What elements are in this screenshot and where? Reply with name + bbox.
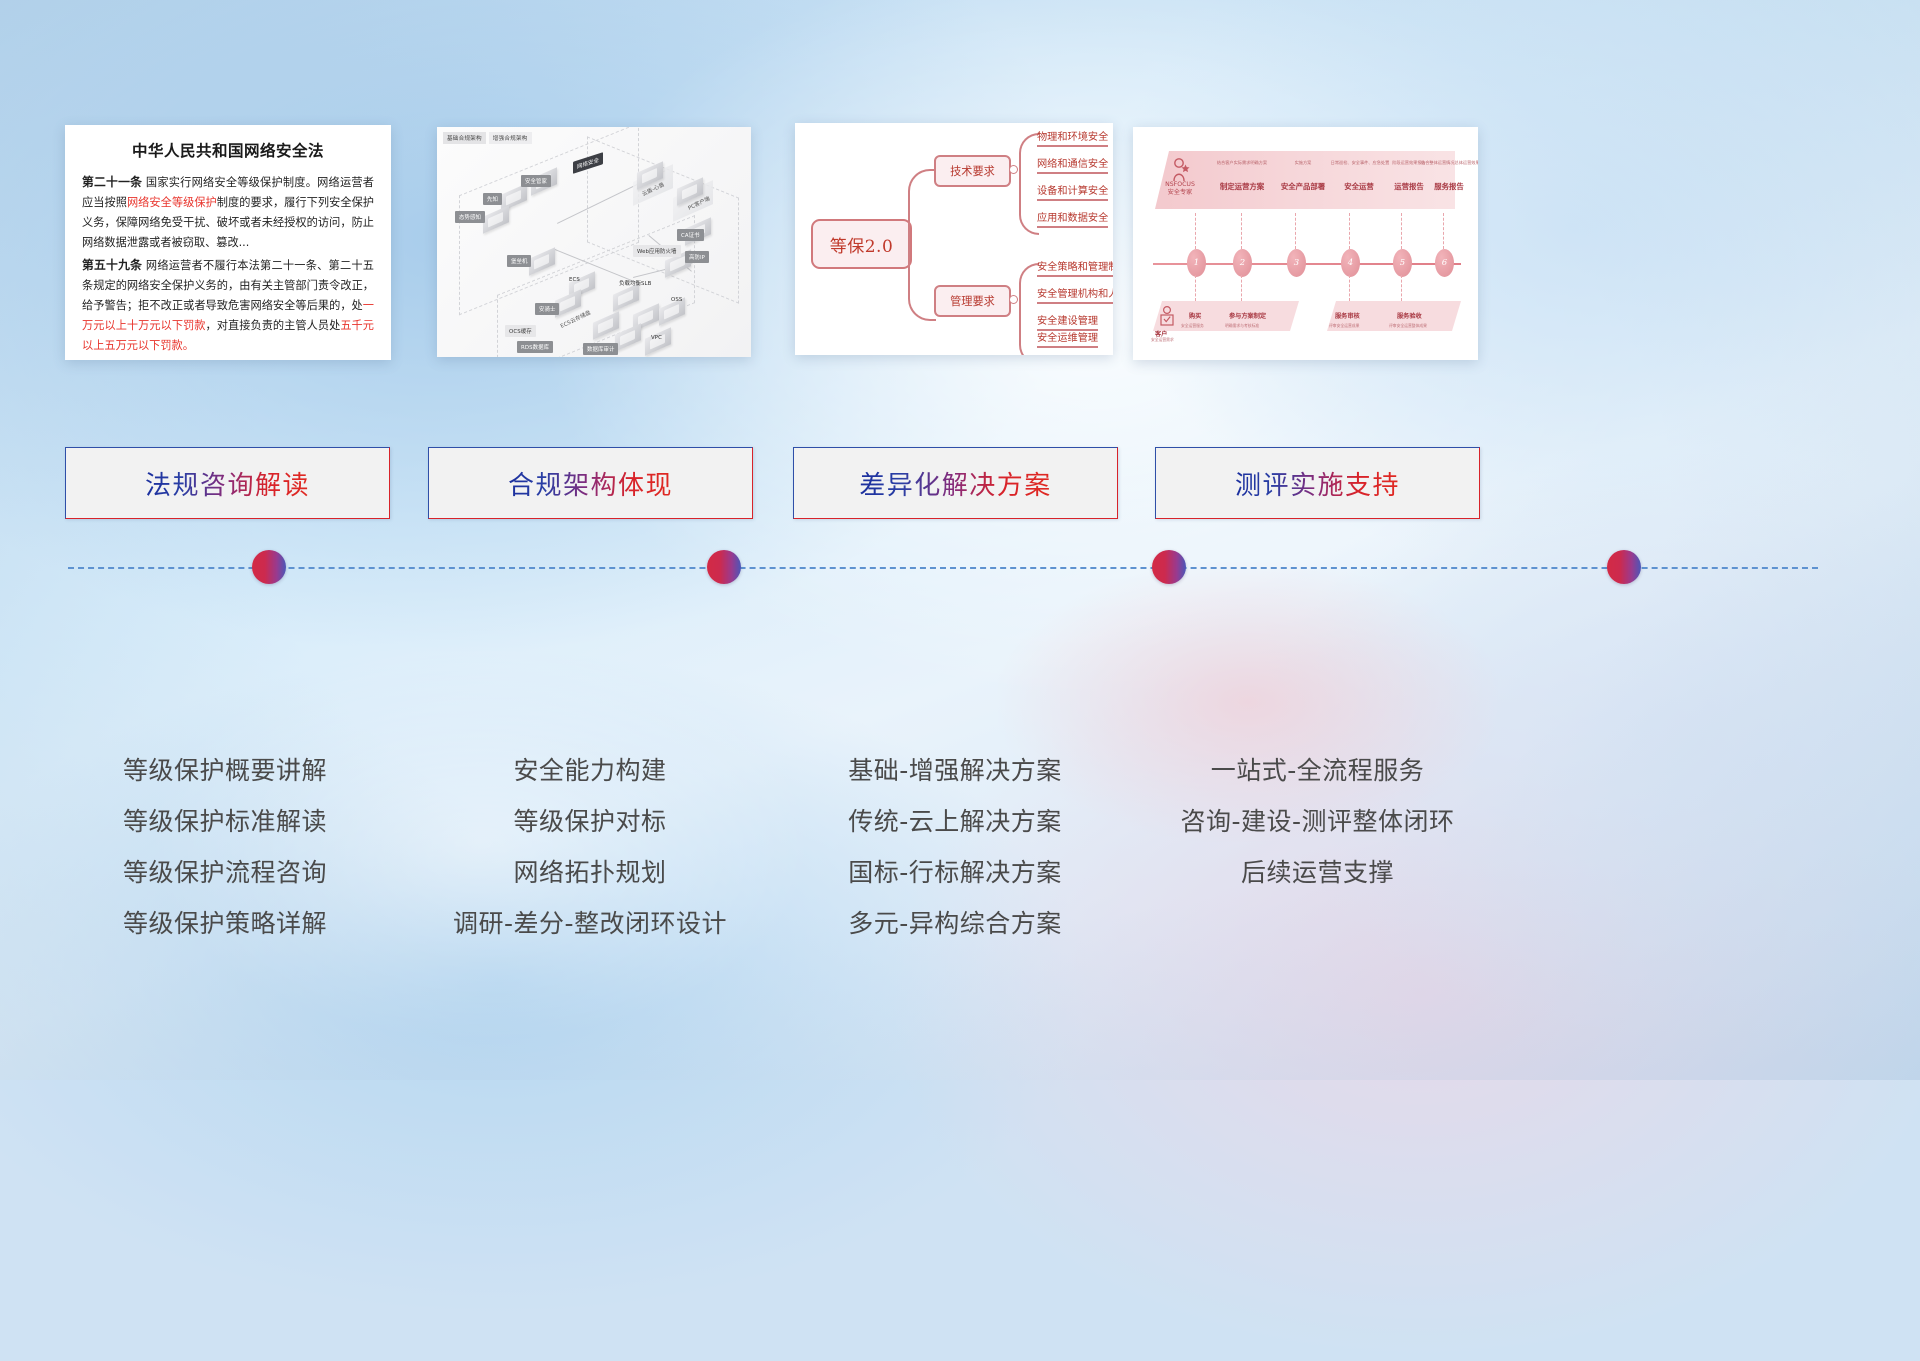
card-nsfocus-service-timeline[interactable]: NSFOCUS 安全专家 结合客户实际需求明确方案 制定运营方案 实施方案 安全… — [1133, 127, 1478, 360]
section-title-label-4: 测评实施支持 — [1235, 465, 1400, 502]
topology-tab-basic[interactable]: 基础合规架构 — [443, 132, 486, 144]
nsfocus-tick — [1195, 275, 1197, 301]
list-item: 等级保护标准解读 — [55, 796, 395, 847]
list-item: 基础-增强解决方案 — [785, 745, 1125, 796]
mindmap-leaf-connector — [1019, 133, 1039, 235]
topology-label-5: 安骑士 — [535, 303, 559, 315]
mindmap-main-connector — [908, 169, 936, 321]
section-title-label-3: 差异化解决方案 — [859, 465, 1052, 502]
nsfocus-step-label-5: 服务报告 — [1423, 181, 1475, 192]
topology-label-9: ECS — [565, 275, 584, 285]
list-item: 安全能力构建 — [420, 745, 760, 796]
law-paragraph-2: 第五十九条 网络运营者不履行本法第二十一条、第二十五条规定的网络安全保护义务的，… — [82, 255, 374, 356]
nsfocus-brand-block: NSFOCUS 安全专家 — [1157, 181, 1203, 197]
list-item: 多元-异构综合方案 — [785, 898, 1125, 949]
nsfocus-tick — [1443, 213, 1445, 249]
topology-label-3: 态势感知 — [455, 211, 485, 223]
section-list-3: 基础-增强解决方案 传统-云上解决方案 国标-行标解决方案 多元-异构综合方案 — [785, 745, 1125, 949]
section-title-box-4[interactable]: 测评实施支持 — [1155, 447, 1480, 519]
mindmap-branch-management: 管理要求 — [934, 285, 1011, 317]
nsfocus-step-label-1: 制定运营方案 — [1211, 181, 1273, 192]
customer-icon-sub: 安全运营需求 — [1151, 337, 1174, 343]
topology-label-12: Web应用防火墙 — [633, 245, 681, 257]
topology-label-15: 高防IP — [685, 251, 709, 263]
timeline-dot-3[interactable] — [1152, 550, 1186, 584]
list-item: 等级保护流程咨询 — [55, 847, 395, 898]
mindmap-leaf: 安全管理机构和人员 — [1037, 285, 1113, 304]
section-title-box-2[interactable]: 合规架构体现 — [428, 447, 753, 519]
customer-item-sub-4: 评审安全运营整体成果 — [1389, 323, 1427, 329]
timeline — [0, 540, 1920, 600]
section-title-box-1[interactable]: 法规咨询解读 — [65, 447, 390, 519]
nsfocus-step-sub-2: 实施方案 — [1277, 160, 1329, 166]
nsfocus-step-number-1: 1 — [1187, 249, 1206, 277]
nsfocus-tick — [1349, 275, 1351, 301]
topology-label-6: OCS缓存 — [505, 325, 536, 337]
nsfocus-brand: NSFOCUS — [1157, 181, 1203, 189]
nsfocus-tick — [1295, 213, 1297, 249]
section-list-4: 一站式-全流程服务 咨询-建设-测评整体闭环 后续运营支撑 — [1140, 745, 1495, 898]
customer-item-label-1: 购买 — [1189, 311, 1201, 320]
law-title: 中华人民共和国网络安全法 — [82, 139, 374, 161]
nsfocus-step-number-4: 4 — [1341, 249, 1360, 277]
nsfocus-step-sub-5: 结合整体运营情况总体运营效果 — [1421, 160, 1478, 166]
customer-item-label-4: 服务验收 — [1397, 311, 1422, 320]
list-item: 等级保护策略详解 — [55, 898, 395, 949]
topology-label-17: OSS — [667, 295, 686, 305]
nsfocus-tick — [1349, 213, 1351, 249]
topology-label-2: 先知 — [483, 193, 502, 205]
nsfocus-step-sub-1: 结合客户实际需求明确方案 — [1211, 160, 1273, 166]
section-title-box-3[interactable]: 差异化解决方案 — [793, 447, 1118, 519]
list-item: 调研-差分-整改闭环设计 — [420, 898, 760, 949]
law-article-label-1: 第二十一条 — [82, 175, 142, 189]
topology-label-4: 堡垒机 — [507, 255, 531, 267]
nsfocus-tick — [1195, 213, 1197, 249]
section-title-label-2: 合规架构体现 — [508, 465, 673, 502]
topology-label-1: 安全管家 — [521, 175, 551, 187]
topology-label-14: CA证书 — [677, 229, 704, 241]
law-run-highlight: 网络安全等级保护 — [127, 196, 217, 209]
section-detail-row: 等级保护概要讲解 等级保护标准解读 等级保护流程咨询 等级保护策略详解 安全能力… — [0, 745, 1920, 985]
nsfocus-tick — [1241, 275, 1243, 301]
customer-item-label-2: 参与方案制定 — [1229, 311, 1266, 320]
card-cybersecurity-law[interactable]: 中华人民共和国网络安全法 第二十一条 国家实行网络安全等级保护制度。网络运营者应… — [65, 125, 391, 360]
nsfocus-step-number-6: 6 — [1435, 249, 1454, 277]
customer-icon — [1159, 305, 1175, 327]
section-list-1: 等级保护概要讲解 等级保护标准解读 等级保护流程咨询 等级保护策略详解 — [55, 745, 395, 949]
list-item: 国标-行标解决方案 — [785, 847, 1125, 898]
mindmap-expand-dot[interactable] — [1009, 295, 1018, 304]
nsfocus-step-sub-3: 日常巡检、安全事件、应急处置 — [1329, 160, 1391, 166]
nsfocus-step-label-2: 安全产品部署 — [1277, 181, 1329, 192]
nsfocus-step-number-2: 2 — [1233, 249, 1252, 277]
illustration-card-row: 中华人民共和国网络安全法 第二十一条 国家实行网络安全等级保护制度。网络运营者应… — [0, 0, 1920, 380]
mindmap-branch-technical: 技术要求 — [934, 155, 1011, 187]
mindmap-leaf: 物理和环境安全 — [1037, 128, 1108, 147]
law-run: ，对直接负责的主管人员处 — [206, 319, 341, 332]
mindmap-expand-dot[interactable] — [1009, 165, 1018, 174]
nsfocus-tick — [1241, 213, 1243, 249]
security-expert-icon — [1171, 157, 1191, 183]
mindmap-leaf: 网络和通信安全 — [1037, 155, 1108, 174]
section-title-label-1: 法规咨询解读 — [145, 465, 310, 502]
nsfocus-step-number-3: 3 — [1287, 249, 1306, 277]
topology-label-18: VPC — [647, 333, 666, 343]
nsfocus-tick — [1401, 213, 1403, 249]
customer-item-sub-3: 评审安全运营成果 — [1329, 323, 1359, 329]
topology-tab-group: 基础合规架构 增强合规架构 — [443, 132, 532, 144]
timeline-dot-2[interactable] — [707, 550, 741, 584]
mindmap-leaf: 应用和数据安全 — [1037, 209, 1108, 228]
timeline-dashed-line — [68, 567, 1818, 569]
list-item: 网络拓扑规划 — [420, 847, 760, 898]
customer-item-label-3: 服务审核 — [1335, 311, 1360, 320]
topology-label-11: 负载均衡SLB — [615, 277, 655, 289]
mindmap-root-node: 等保2.0 — [811, 219, 912, 269]
list-item: 咨询-建设-测评整体闭环 — [1140, 796, 1495, 847]
list-item: 后续运营支撑 — [1140, 847, 1495, 898]
topology-tab-enhanced[interactable]: 增强合规架构 — [489, 132, 532, 144]
list-item: 一站式-全流程服务 — [1140, 745, 1495, 796]
timeline-dot-4[interactable] — [1607, 550, 1641, 584]
timeline-dot-1[interactable] — [252, 550, 286, 584]
nsfocus-tick — [1401, 275, 1403, 301]
nsfocus-step-number-5: 5 — [1393, 249, 1412, 277]
topology-label-8: 数据库审计 — [583, 343, 618, 355]
list-item: 等级保护对标 — [420, 796, 760, 847]
mindmap-leaf: 安全运维管理 — [1037, 329, 1098, 348]
law-article-label-2: 第五十九条 — [82, 258, 142, 272]
customer-item-sub-2: 明确需求与考核标准 — [1225, 323, 1259, 329]
section-title-row: 法规咨询解读 合规架构体现 差异化解决方案 测评实施支持 — [0, 447, 1920, 522]
mindmap-leaf: 安全策略和管理制度 — [1037, 258, 1113, 277]
mindmap-leaf: 设备和计算安全 — [1037, 182, 1108, 201]
list-item: 等级保护概要讲解 — [55, 745, 395, 796]
customer-item-sub-1: 安全运营服务 — [1181, 323, 1204, 329]
mindmap-leaf-connector — [1019, 263, 1039, 355]
section-list-2: 安全能力构建 等级保护对标 网络拓扑规划 调研-差分-整改闭环设计 — [420, 745, 760, 949]
nsfocus-brand-sub: 安全专家 — [1157, 189, 1203, 197]
list-item: 传统-云上解决方案 — [785, 796, 1125, 847]
law-paragraph-1: 第二十一条 国家实行网络安全等级保护制度。网络运营者应当按照网络安全等级保护制度… — [82, 172, 374, 253]
card-dengbao-mindmap[interactable]: 等保2.0 技术要求 物理和环境安全 网络和通信安全 设备和计算安全 应用和数据… — [795, 123, 1113, 355]
topology-label-7: RDS数据库 — [517, 341, 553, 353]
card-compliance-architecture[interactable]: 基础合规架构 增强合规架构 — [437, 127, 751, 357]
nsfocus-step-label-3: 安全运营 — [1333, 181, 1385, 192]
